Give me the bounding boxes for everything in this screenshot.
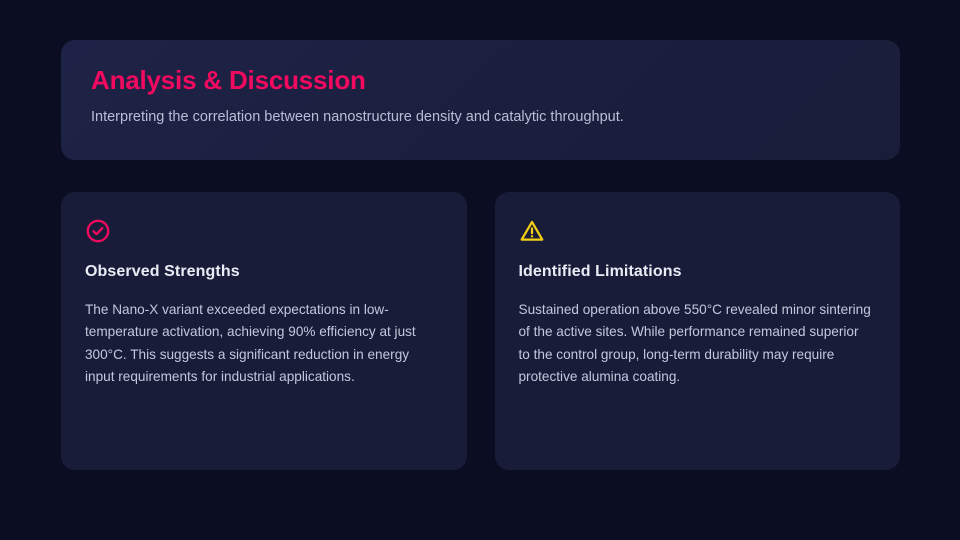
card-body-text: The Nano-X variant exceeded expectations…: [85, 299, 440, 389]
card-heading: Identified Limitations: [519, 262, 877, 282]
card-observed-strengths: Observed Strengths The Nano-X variant ex…: [61, 192, 467, 470]
card-heading: Observed Strengths: [85, 262, 443, 282]
check-circle-icon: [85, 218, 111, 244]
warning-triangle-icon: [519, 218, 545, 244]
page-subtitle: Interpreting the correlation between nan…: [91, 108, 870, 127]
card-body-text: Sustained operation above 550°C revealed…: [519, 299, 874, 389]
header-banner: Analysis & Discussion Interpreting the c…: [61, 40, 900, 160]
card-identified-limitations: Identified Limitations Sustained operati…: [495, 192, 901, 470]
page-title: Analysis & Discussion: [91, 66, 870, 96]
cards-row: Observed Strengths The Nano-X variant ex…: [61, 192, 900, 470]
slide-root: Analysis & Discussion Interpreting the c…: [0, 0, 960, 540]
